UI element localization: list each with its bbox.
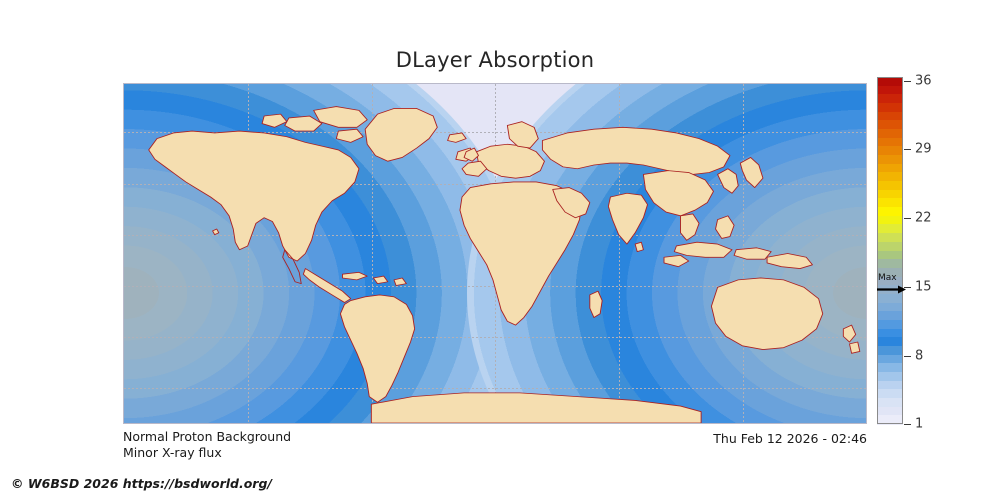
arrow-right-icon (877, 285, 907, 294)
colorbar-outline (877, 77, 903, 424)
max-marker-label: Max (878, 273, 897, 283)
max-marker: Max (876, 273, 912, 295)
timestamp: Thu Feb 12 2026 - 02:46 (713, 431, 867, 446)
map-canvas (124, 84, 866, 423)
colorbar-tick (904, 218, 911, 219)
colorbar[interactable] (877, 77, 903, 424)
page-title: DLayer Absorption (0, 48, 990, 72)
colorbar-axis-label: Affected Frequency (MHz) (915, 77, 1000, 424)
coastlines (124, 84, 866, 423)
proton-status: Normal Proton Background (123, 429, 291, 444)
copyright: © W6BSD 2026 https://bsdworld.org/ (11, 476, 272, 491)
colorbar-tick (904, 81, 911, 82)
figure-root: DLayer Absorption (0, 0, 1000, 500)
colorbar-tick (904, 356, 911, 357)
colorbar-tick (904, 149, 911, 150)
colorbar-tick (904, 424, 911, 425)
world-map[interactable] (123, 83, 867, 424)
xray-status: Minor X-ray flux (123, 445, 222, 460)
